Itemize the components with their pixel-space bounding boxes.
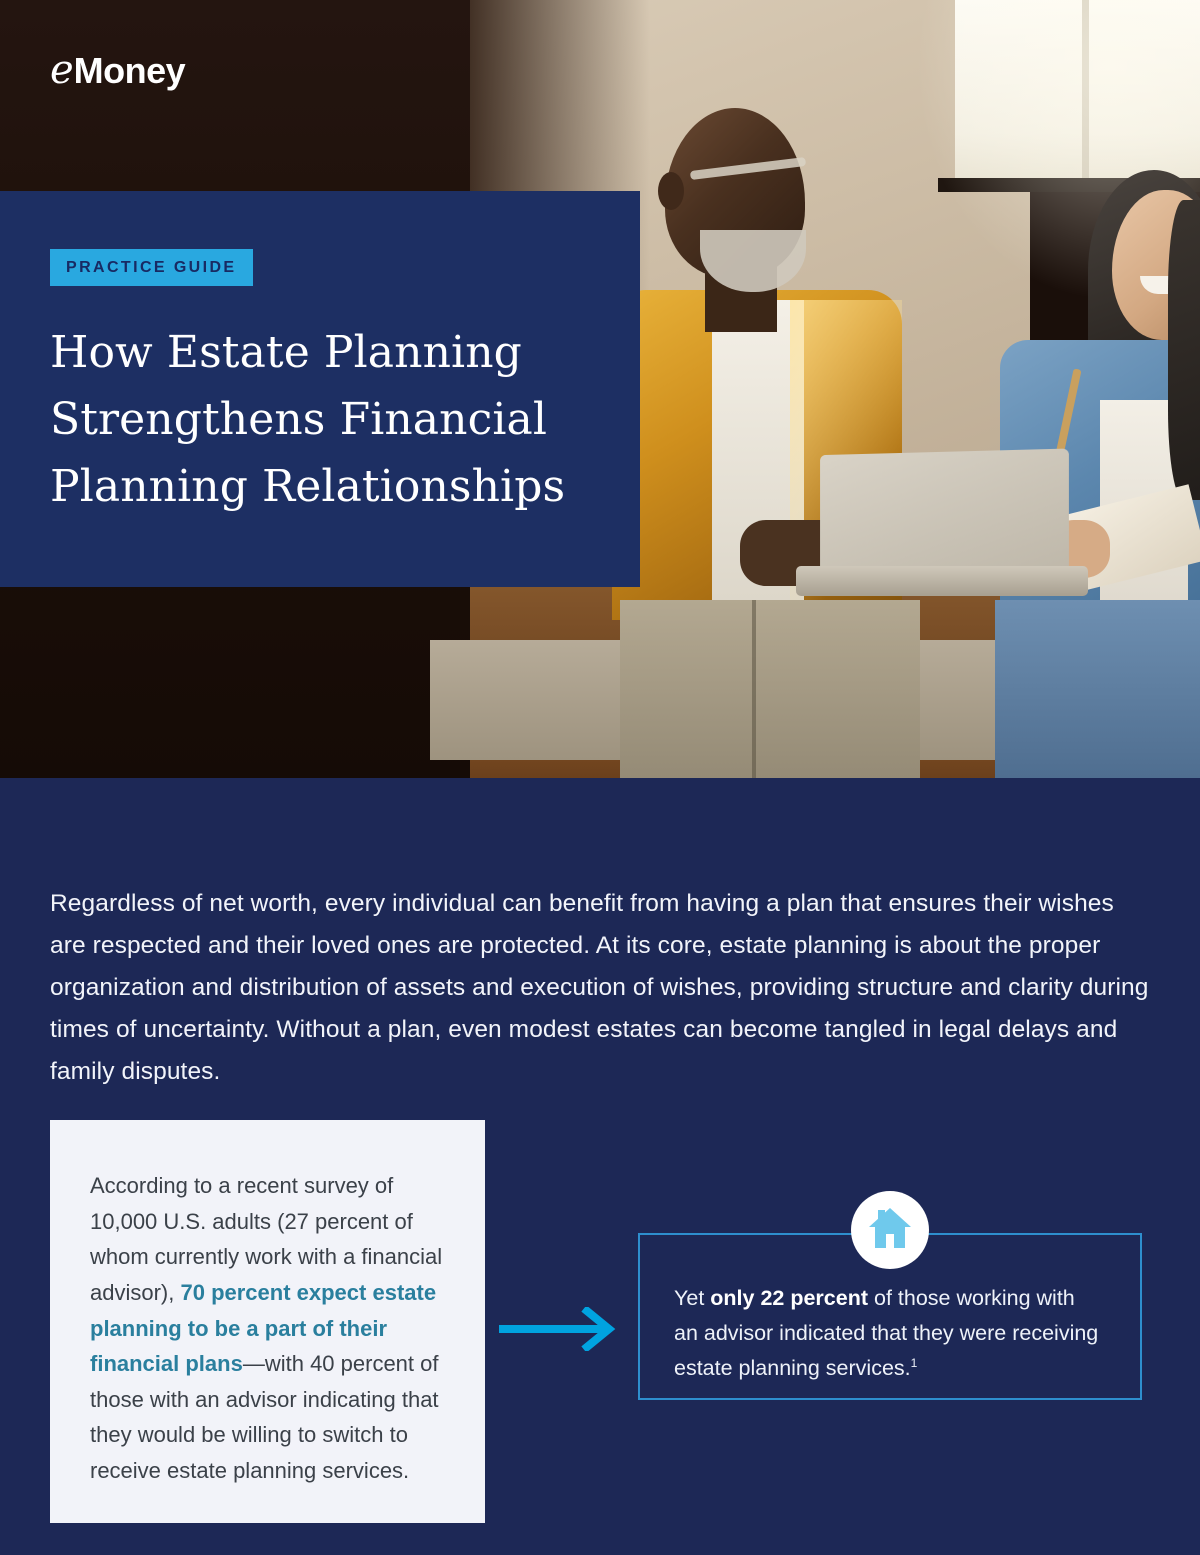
photo-person-right-hair-front (1168, 200, 1200, 500)
footnote-marker: 1 (911, 1356, 918, 1370)
practice-guide-badge: PRACTICE GUIDE (50, 249, 253, 286)
logo-wordmark: Money (74, 50, 186, 91)
page-title: How Estate Planning Strengthens Financia… (50, 320, 590, 521)
photo-person-right-jeans (995, 600, 1200, 778)
house-icon (867, 1206, 913, 1255)
survey-stat-card: According to a recent survey of 10,000 U… (50, 1120, 485, 1523)
photo-person-left-pants-seam (752, 600, 756, 778)
intro-paragraph: Regardless of net worth, every individua… (50, 883, 1150, 1094)
logo-e-glyph: e (50, 47, 74, 93)
arrow-right-icon (499, 1307, 623, 1351)
photo-person-left-pants (620, 600, 920, 778)
photo-person-left-ear (658, 172, 684, 210)
emoney-logo: eMoney (50, 50, 185, 90)
survey-stat-text: According to a recent survey of 10,000 U… (90, 1168, 449, 1489)
photo-laptop-base (796, 566, 1088, 596)
callout-part1: Yet (674, 1286, 710, 1310)
photo-laptop-screen (820, 448, 1069, 583)
title-block: PRACTICE GUIDE How Estate Planning Stren… (0, 191, 640, 587)
house-icon-badge (851, 1191, 929, 1269)
callout-bold-stat: only 22 percent (710, 1286, 868, 1310)
body-section: Regardless of net worth, every individua… (0, 778, 1200, 1555)
callout-text: Yet only 22 percent of those working wit… (674, 1281, 1100, 1385)
